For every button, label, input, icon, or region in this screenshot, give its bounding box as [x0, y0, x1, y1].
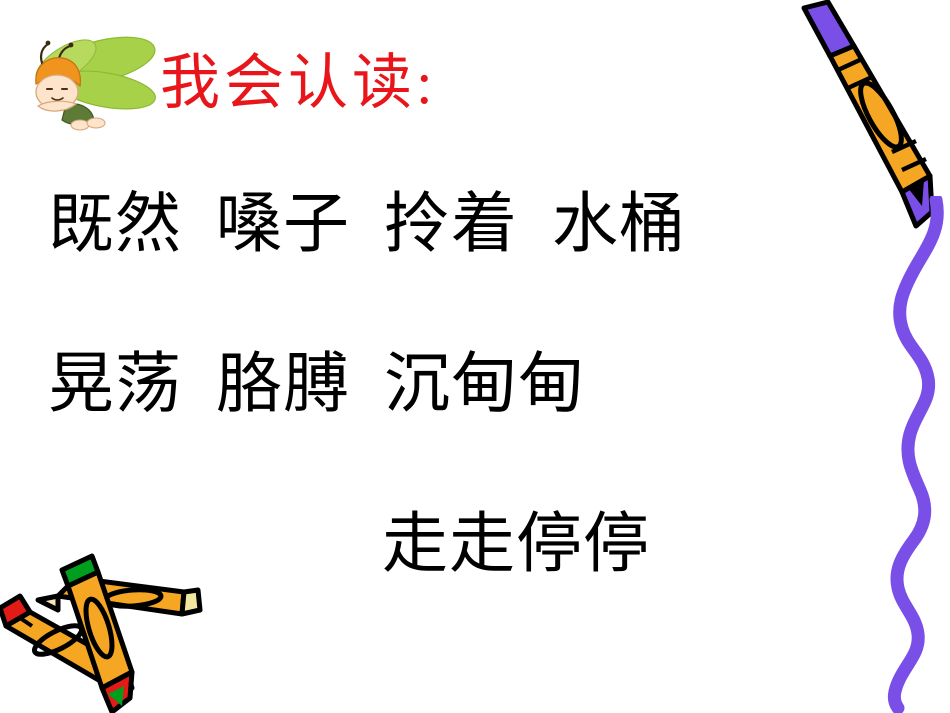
vocab-word: 嗓子	[216, 192, 350, 258]
vocab-word: 晃荡	[48, 352, 182, 418]
slide-canvas: 我会认读: 既然嗓子拎着水桶 晃荡胳膊沉甸甸 走走停停	[0, 0, 950, 713]
vocab-word: 沉甸甸	[384, 352, 585, 418]
vocab-word: 既然	[48, 192, 182, 258]
vocab-row-3: 走走停停	[382, 512, 650, 578]
page-title: 我会认读:	[160, 53, 437, 113]
vocab-word: 胳膊	[216, 352, 350, 418]
fairy-bee-icon	[14, 28, 164, 138]
purple-wavy-line	[866, 196, 950, 713]
crayon-trio-icon	[0, 548, 203, 713]
vocab-word: 拎着	[384, 192, 518, 258]
vocab-word: 走走停停	[382, 512, 650, 578]
vocab-row-1: 既然嗓子拎着水桶	[48, 192, 686, 258]
vocab-word: 水桶	[552, 192, 686, 258]
vocab-row-2: 晃荡胳膊沉甸甸	[48, 352, 585, 418]
title-row: 我会认读:	[14, 28, 437, 138]
